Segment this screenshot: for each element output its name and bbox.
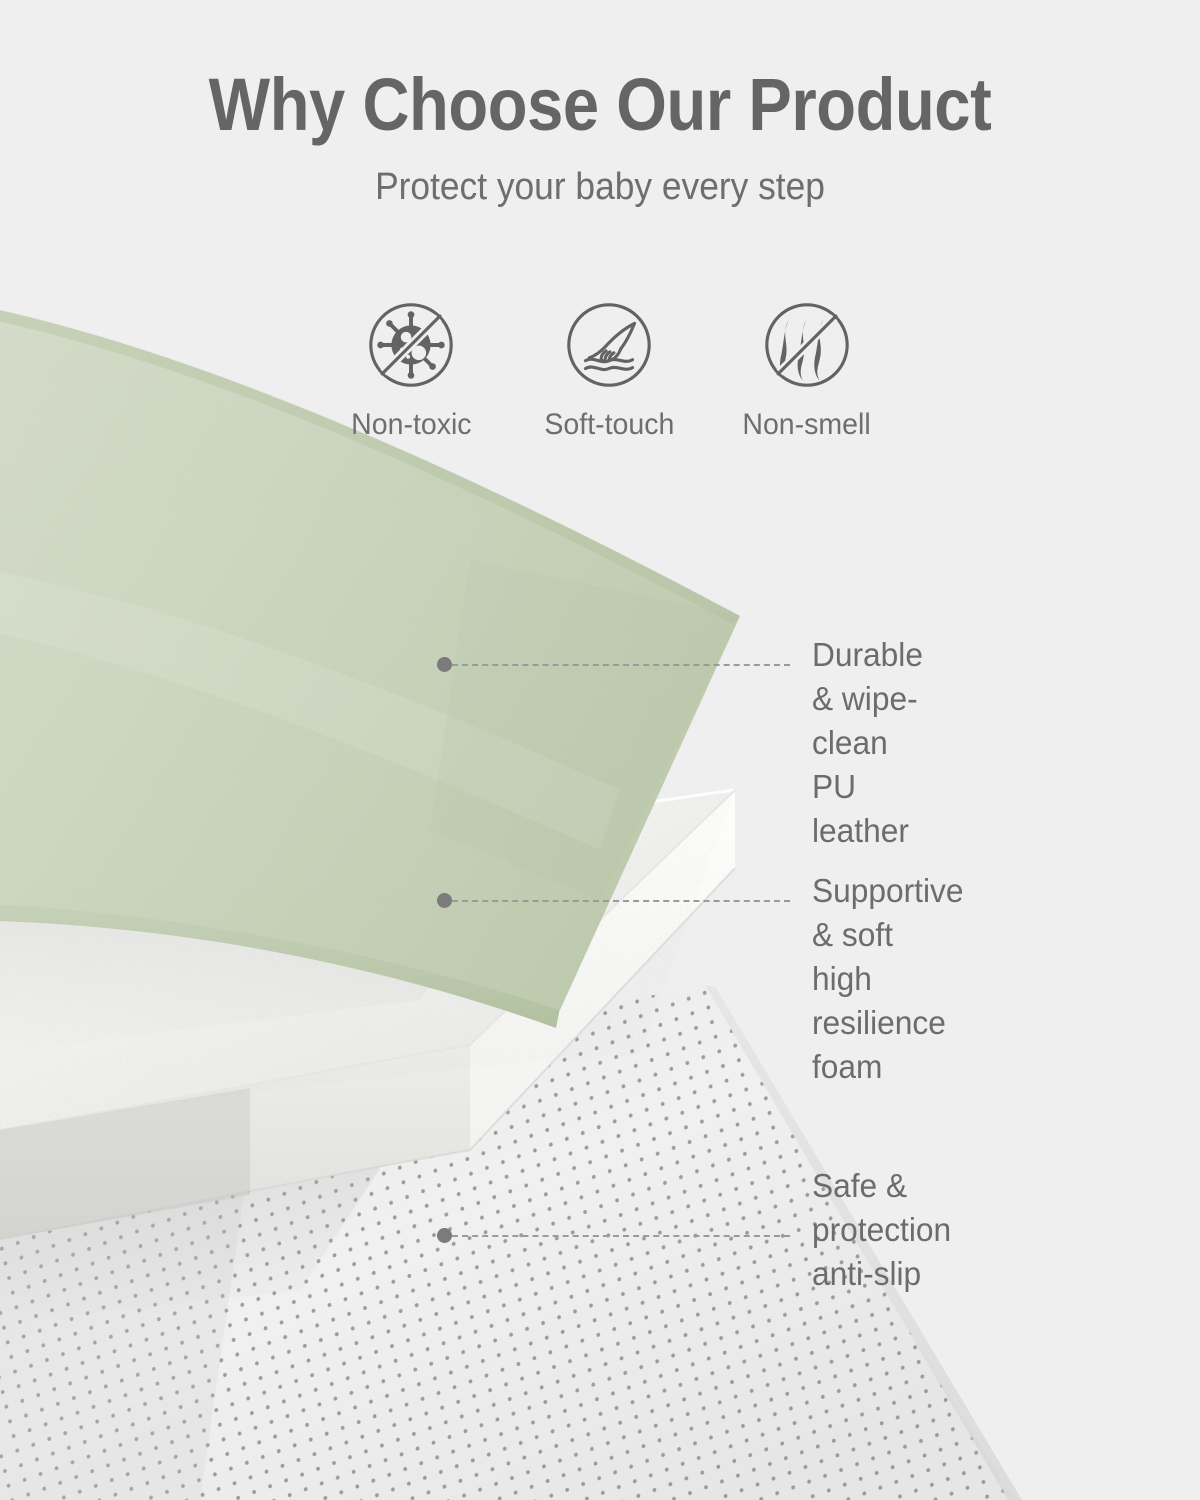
badge-soft-touch: Soft-touch bbox=[524, 296, 694, 440]
callout-label: Safe & protection anti-slip bbox=[812, 1164, 951, 1296]
callout-dot bbox=[437, 893, 452, 908]
layered-product-illustration bbox=[0, 0, 1200, 1500]
callout-dot bbox=[437, 1228, 452, 1243]
callout-dot bbox=[437, 657, 452, 672]
page-title: Why Choose Our Product bbox=[72, 0, 1128, 142]
smell-waves-no-slash-icon bbox=[758, 296, 856, 394]
germ-no-slash-icon bbox=[362, 296, 460, 394]
header: Why Choose Our Product Protect your baby… bbox=[0, 0, 1200, 206]
callout-label: Durable & wipe-clean PU leather bbox=[812, 633, 923, 852]
page-subtitle: Protect your baby every step bbox=[42, 142, 1158, 206]
badge-non-smell: Non-smell bbox=[722, 296, 892, 440]
badge-label: Non-toxic bbox=[351, 410, 471, 440]
hand-touch-fabric-icon bbox=[560, 296, 658, 394]
badge-label: Non-smell bbox=[743, 410, 871, 440]
callout-leader-line bbox=[452, 1235, 790, 1237]
callout-label: Supportive & soft high resilience foam bbox=[812, 869, 963, 1088]
product-infographic: Why Choose Our Product Protect your baby… bbox=[0, 0, 1200, 1500]
badge-non-toxic: Non-toxic bbox=[326, 296, 496, 440]
badge-label: Soft-touch bbox=[544, 410, 674, 440]
callout-leader-line bbox=[452, 900, 790, 902]
callout-leader-line bbox=[452, 664, 790, 666]
feature-badges: Non-toxic bbox=[326, 296, 892, 440]
